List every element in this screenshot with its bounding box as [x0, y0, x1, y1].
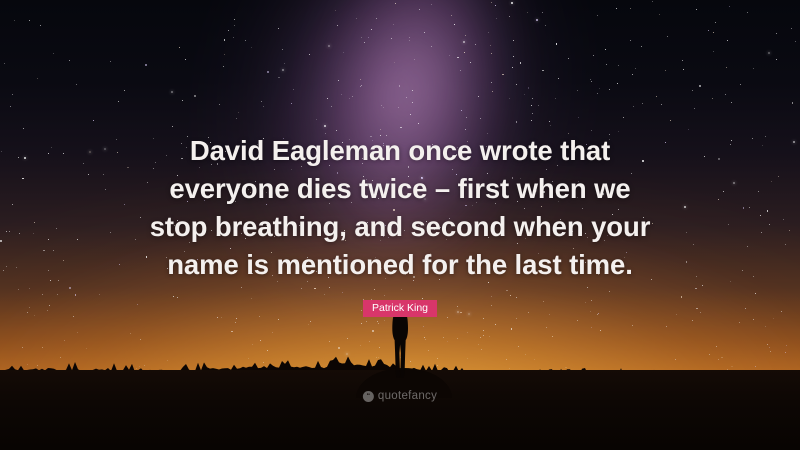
quote-poster: David Eagleman once wrote that everyone … [0, 0, 800, 450]
quote-line: David Eagleman once wrote that [140, 132, 660, 170]
watermark-label: quotefancy [378, 390, 437, 402]
quote-line: name is mentioned for the last time. [140, 246, 660, 284]
author-badge[interactable]: Patrick King [363, 300, 437, 317]
watermark[interactable]: “ quotefancy [363, 390, 437, 402]
quote-text: David Eagleman once wrote that everyone … [140, 132, 660, 284]
quote-line: everyone dies twice – first when we [140, 170, 660, 208]
quote-line: stop breathing, and second when your [140, 208, 660, 246]
quotefancy-logo-icon: “ [363, 391, 374, 402]
